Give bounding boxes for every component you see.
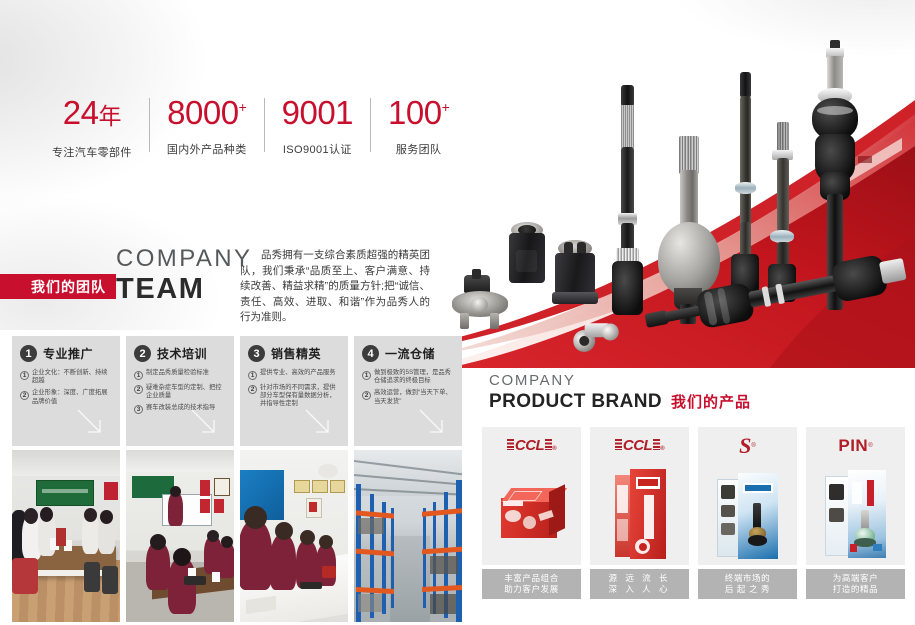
card-number-badge: 4 [362,345,379,362]
card-item-text: 提供专业、高效的产品服务 [260,369,336,380]
ccl-logo-icon: CCL® [615,437,664,454]
card-header: 3 销售精英 [248,345,340,362]
card-item-number: 2 [248,385,257,394]
team-title-block: COMPANY TEAM [116,246,252,305]
card-list-item: 3 赛车改装总成的技术指导 [134,404,226,415]
product-brand-header: COMPANY PRODUCT BRAND 我们的产品 [489,372,751,413]
arrow-down-right-icon [76,408,106,438]
product-image-1 [482,464,581,565]
card-list: 1 做到极致的5S管理，是品秀仓储追求的终极目标 2 高效运营，做到“当天下单、… [362,369,454,406]
team-section-header: 我们的团队 COMPANY TEAM 品秀拥有一支综合素质超强的精英团队，我们秉… [0,246,455,312]
card-item-number: 3 [134,405,143,414]
card-list-item: 1 做到极致的5S管理，是品秀仓储追求的终极目标 [362,369,454,385]
card-list-item: 1 制定品秀质量检验标准 [134,369,226,380]
product-card-2[interactable]: CCL® 源 远 流 长 深 入 人 心 [590,427,689,599]
product-card-4[interactable]: PIN® 为高端客户 打造的精品 [806,427,905,599]
feature-card-1[interactable]: 1 专业推广 1 企业文化：不断创新、持续超越 2 企业形象：深度、广度拓展品牌… [12,336,120,446]
part-drive-shaft-2 [730,72,760,297]
card-item-text: 疑难杂症车型的定制、把控企业质量 [146,384,226,400]
card-item-number: 2 [362,391,371,400]
product-grid: CCL® 丰富产品组合 助力客户发展 [482,427,905,599]
card-item-number: 1 [362,371,371,380]
product-title-row: PRODUCT BRAND 我们的产品 [489,391,751,413]
stat-number-2: 9001 [282,96,353,130]
card-list-item: 1 提供专业、高效的产品服务 [248,369,340,380]
product-image-4 [806,464,905,565]
card-item-text: 赛车改装总成的技术指导 [146,404,215,415]
card-list-item: 2 企业形象：深度、广度拓展品牌价值 [20,389,112,405]
team-photo-3 [240,450,348,622]
arrow-down-right-icon [304,408,334,438]
card-item-number: 1 [134,371,143,380]
product-image-2 [590,464,689,565]
card-list: 1 企业文化：不断创新、持续超越 2 企业形象：深度、广度拓展品牌价值 [20,369,112,406]
stat-number-0: 24年 [63,96,121,133]
team-photo-4 [354,450,462,622]
stats-bar: 24年 专注汽车零部件 8000+ 国内外产品种类 9001 ISO9001认证… [52,96,466,160]
card-list-item: 2 高效运营，做到“当天下单、当天发货” [362,389,454,405]
team-badge: 我们的团队 [0,274,116,299]
card-list: 1 提供专业、高效的产品服务 2 针对市场的不同需求，提供部分车型保有量数据分析… [248,369,340,408]
team-company-label: COMPANY [116,246,252,272]
feature-card-4[interactable]: 4 一流仓储 1 做到极致的5S管理，是品秀仓储追求的终极目标 2 高效运营，做… [354,336,462,446]
carton-box-red-cube [493,476,571,554]
card-item-number: 2 [20,391,29,400]
card-title: 技术培训 [157,345,207,362]
card-header: 1 专业推广 [20,345,112,362]
stat-item-0: 24年 专注汽车零部件 [52,96,149,160]
hero-parts-image [440,0,915,368]
card-title: 销售精英 [271,345,321,362]
ccl-logo-icon: CCL® [507,437,556,454]
registered-mark: ® [751,443,755,449]
card-number-badge: 3 [248,345,265,362]
card-list-item: 1 企业文化：不断创新、持续超越 [20,369,112,385]
product-brand-title: PRODUCT BRAND [489,391,662,413]
part-tripod-housing-b [552,240,598,310]
product-company-label: COMPANY [489,372,751,390]
feature-cards: 1 专业推广 1 企业文化：不断创新、持续超越 2 企业形象：深度、广度拓展品牌… [12,336,462,446]
product-logo-1: CCL® [482,427,581,464]
card-item-text: 高效运营，做到“当天下单、当天发货” [374,389,454,405]
carton-box-blue-2 [823,470,889,560]
card-number-badge: 2 [134,345,151,362]
pin-logo-icon: PIN [838,436,868,456]
team-heading: TEAM [116,274,252,305]
product-brand-title-cn: 我们的产品 [671,391,751,412]
product-logo-2: CCL® [590,427,689,464]
product-card-3[interactable]: S® 终端市场的 后 起 之 秀 [698,427,797,599]
card-list: 1 制定品秀质量检验标准 2 疑难杂症车型的定制、把控企业质量 3 赛车改装总成… [134,369,226,414]
poster-page: 24年 专注汽车零部件 8000+ 国内外产品种类 9001 ISO9001认证… [0,0,915,625]
card-list-item: 2 针对市场的不同需求，提供部分车型保有量数据分析，并指导性定制 [248,384,340,409]
feature-card-2[interactable]: 2 技术培训 1 制定品秀质量检验标准 2 疑难杂症车型的定制、把控企业质量 3… [126,336,234,446]
product-image-3 [698,464,797,565]
stat-number-1: 8000+ [167,96,246,130]
card-item-number: 1 [248,371,257,380]
product-caption-4: 为高端客户 打造的精品 [806,569,905,599]
card-header: 2 技术培训 [134,345,226,362]
card-item-text: 企业文化：不断创新、持续超越 [32,369,112,385]
stat-item-1: 8000+ 国内外产品种类 [150,96,264,157]
product-logo-4: PIN® [806,427,905,464]
card-item-text: 企业形象：深度、广度拓展品牌价值 [32,389,112,405]
product-caption-3: 终端市场的 后 起 之 秀 [698,569,797,599]
part-wheel-hub [452,275,508,333]
script-s-logo-icon: S [739,433,751,459]
card-number-badge: 1 [20,345,37,362]
stat-item-3: 100+ 服务团队 [371,96,466,157]
team-photo-1 [12,450,120,622]
stat-number-3: 100+ [388,96,449,130]
card-item-text: 制定品秀质量检验标准 [146,369,209,380]
arrow-down-right-icon [418,408,448,438]
carton-box-red-tall [609,469,671,561]
part-drive-shaft-1 [610,85,644,315]
feature-card-3[interactable]: 3 销售精英 1 提供专业、高效的产品服务 2 针对市场的不同需求，提供部分车型… [240,336,348,446]
card-item-text: 做到极致的5S管理，是品秀仓储追求的终极目标 [374,369,454,385]
product-logo-3: S® [698,427,797,464]
product-caption-2: 源 远 流 长 深 入 人 心 [590,569,689,599]
part-tripod-housing-a [507,222,547,294]
product-caption-1: 丰富产品组合 助力客户发展 [482,569,581,599]
card-item-number: 2 [134,385,143,394]
card-title: 专业推广 [43,345,93,362]
card-item-text: 针对市场的不同需求，提供部分车型保有量数据分析，并指导性定制 [260,384,340,409]
carton-box-blue-1 [715,471,781,559]
stat-item-2: 9001 ISO9001认证 [265,96,370,157]
stat-label-0: 专注汽车零部件 [52,144,132,160]
team-photo-2 [126,450,234,622]
card-header: 4 一流仓储 [362,345,454,362]
card-list-item: 2 疑难杂症车型的定制、把控企业质量 [134,384,226,400]
card-title: 一流仓储 [385,345,435,362]
stat-label-1: 国内外产品种类 [167,141,247,157]
team-photo-strip [12,450,462,622]
registered-mark: ® [868,443,872,449]
stat-label-2: ISO9001认证 [283,141,352,157]
team-paragraph: 品秀拥有一支综合素质超强的精英团队，我们秉承“品质至上、客户满意、持续改善、精益… [240,248,430,326]
product-card-1[interactable]: CCL® 丰富产品组合 助力客户发展 [482,427,581,599]
stat-label-3: 服务团队 [396,141,442,157]
card-item-number: 1 [20,371,29,380]
